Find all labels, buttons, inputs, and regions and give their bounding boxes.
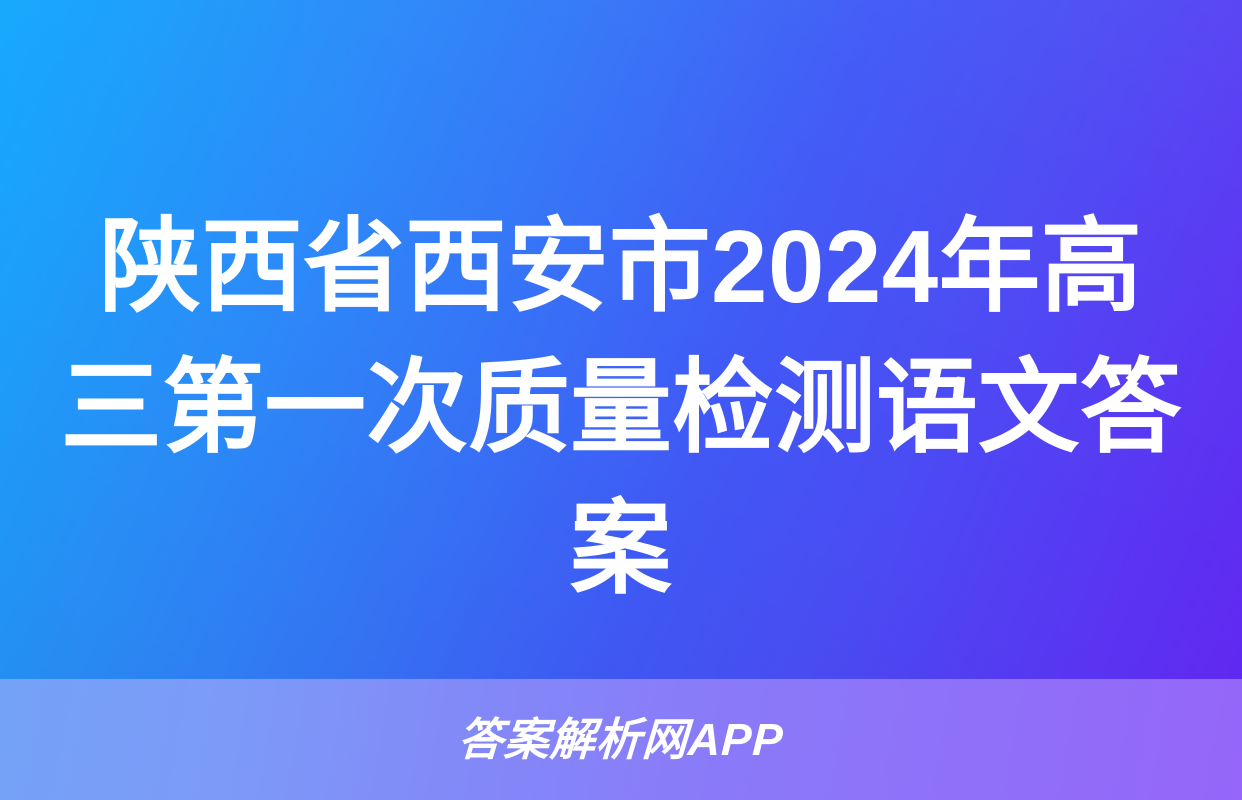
page-title-line-1: 陕西省西安市2024年高	[61, 196, 1182, 337]
brand-watermark-text: 答案解析网APP	[457, 717, 785, 762]
page-title: 陕西省西安市2024年高 三第一次质量检测语文答 案	[0, 196, 1242, 619]
footer-watermark-band: 答案解析网APP	[0, 679, 1242, 800]
page-title-line-3: 案	[61, 478, 1182, 619]
poster-canvas: 陕西省西安市2024年高 三第一次质量检测语文答 案 答案解析网APP	[0, 0, 1242, 800]
hero-gradient-banner: 陕西省西安市2024年高 三第一次质量检测语文答 案	[0, 0, 1242, 679]
page-title-line-2: 三第一次质量检测语文答	[61, 337, 1182, 478]
